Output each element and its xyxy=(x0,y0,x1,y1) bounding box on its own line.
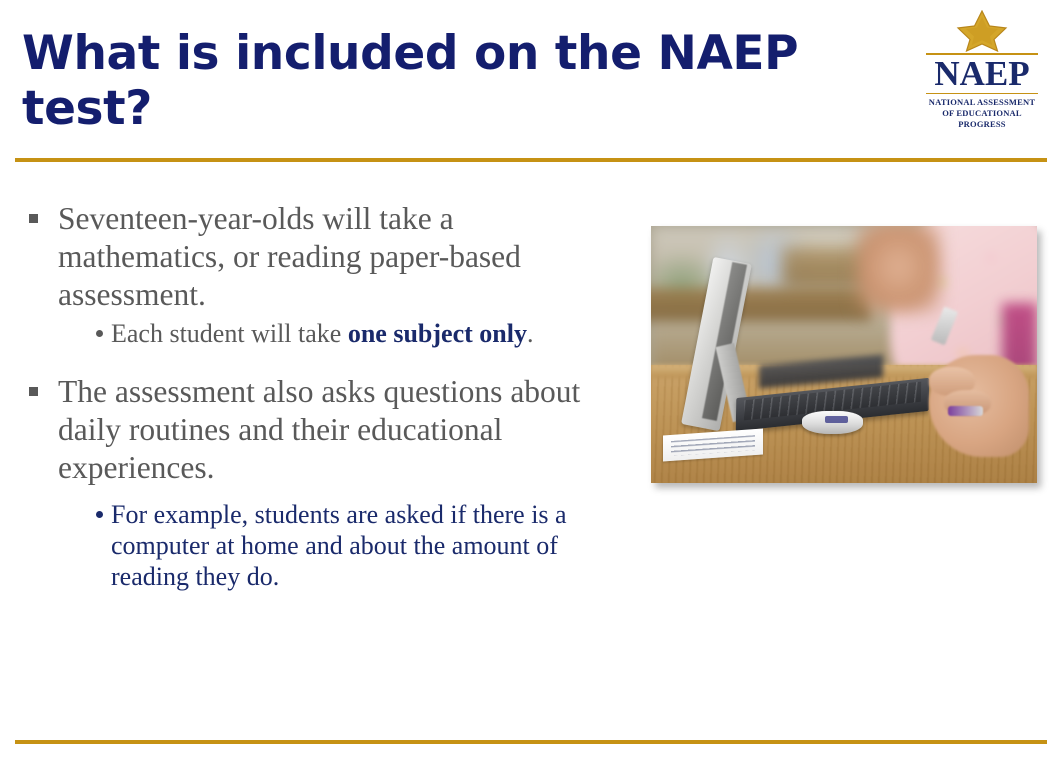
logo-wordmark: NAEP xyxy=(921,55,1043,93)
logo-subtitle-line-1: NATIONAL ASSESSMENT xyxy=(921,97,1043,108)
photo-mouse xyxy=(802,411,864,434)
bullet-level1-1-text: Seventeen-year-olds will take a mathemat… xyxy=(58,201,521,312)
bullet-level2-2: For example, students are asked if there… xyxy=(18,499,618,592)
dot-bullet-icon xyxy=(96,330,103,337)
photo-stylus xyxy=(948,406,983,416)
square-bullet-icon xyxy=(29,214,38,223)
logo-subtitle-line-3: PROGRESS xyxy=(921,119,1043,130)
photo-canvas xyxy=(651,226,1037,483)
bullet-level2-1-emphasis: one subject only xyxy=(348,319,527,348)
logo-subtitle: NATIONAL ASSESSMENT OF EDUCATIONAL PROGR… xyxy=(921,97,1043,130)
star-icon xyxy=(921,10,1043,52)
bullet-level2-1-text-before: Each student will take xyxy=(111,319,348,348)
photo-shelf xyxy=(651,288,871,321)
spacer xyxy=(18,359,618,373)
bullet-level2-1-text-after: . xyxy=(527,319,534,348)
square-bullet-icon xyxy=(29,387,38,396)
bullet-level1-2-text: The assessment also asks questions about… xyxy=(58,374,580,485)
bullet-level1-2: The assessment also asks questions about… xyxy=(18,373,618,487)
divider-top xyxy=(15,158,1047,162)
logo-rule-bottom xyxy=(926,93,1038,94)
spacer xyxy=(18,489,618,495)
dot-bullet-icon xyxy=(96,511,103,518)
bullet-level1-1: Seventeen-year-olds will take a mathemat… xyxy=(18,200,618,314)
logo-subtitle-line-2: OF EDUCATIONAL xyxy=(921,108,1043,119)
photo-student-head xyxy=(856,226,941,313)
naep-logo: NAEP NATIONAL ASSESSMENT OF EDUCATIONAL … xyxy=(921,10,1043,130)
classroom-photo xyxy=(651,226,1037,483)
divider-bottom xyxy=(15,740,1047,744)
content-body: Seventeen-year-olds will take a mathemat… xyxy=(18,200,618,602)
bullet-level2-1: Each student will take one subject only. xyxy=(18,318,618,349)
photo-mouse-detail xyxy=(825,416,848,422)
page-title: What is included on the NAEP test? xyxy=(22,26,902,137)
bullet-level2-2-text: For example, students are asked if there… xyxy=(111,500,567,591)
